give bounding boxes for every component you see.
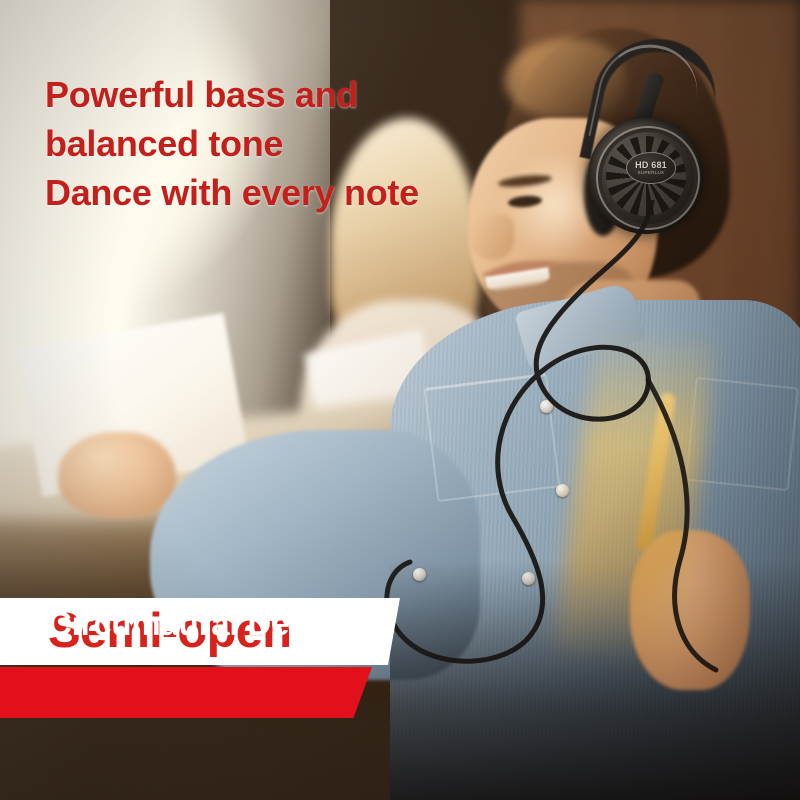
headline-line-3: Dance with every note [45, 168, 505, 217]
feature-banner: Semi-open Circumaural Design [0, 598, 440, 723]
headline-line-1: Powerful bass and [45, 70, 505, 119]
feature-banner-secondary-band [0, 667, 372, 718]
headline-line-2: balanced tone [45, 119, 505, 168]
feature-banner-secondary-label: Circumaural Design [48, 603, 356, 645]
product-marketing-image: HD 681 SUPERLUX Powerful bass and balanc… [0, 0, 800, 800]
headline-copy: Powerful bass and balanced tone Dance wi… [45, 70, 505, 217]
